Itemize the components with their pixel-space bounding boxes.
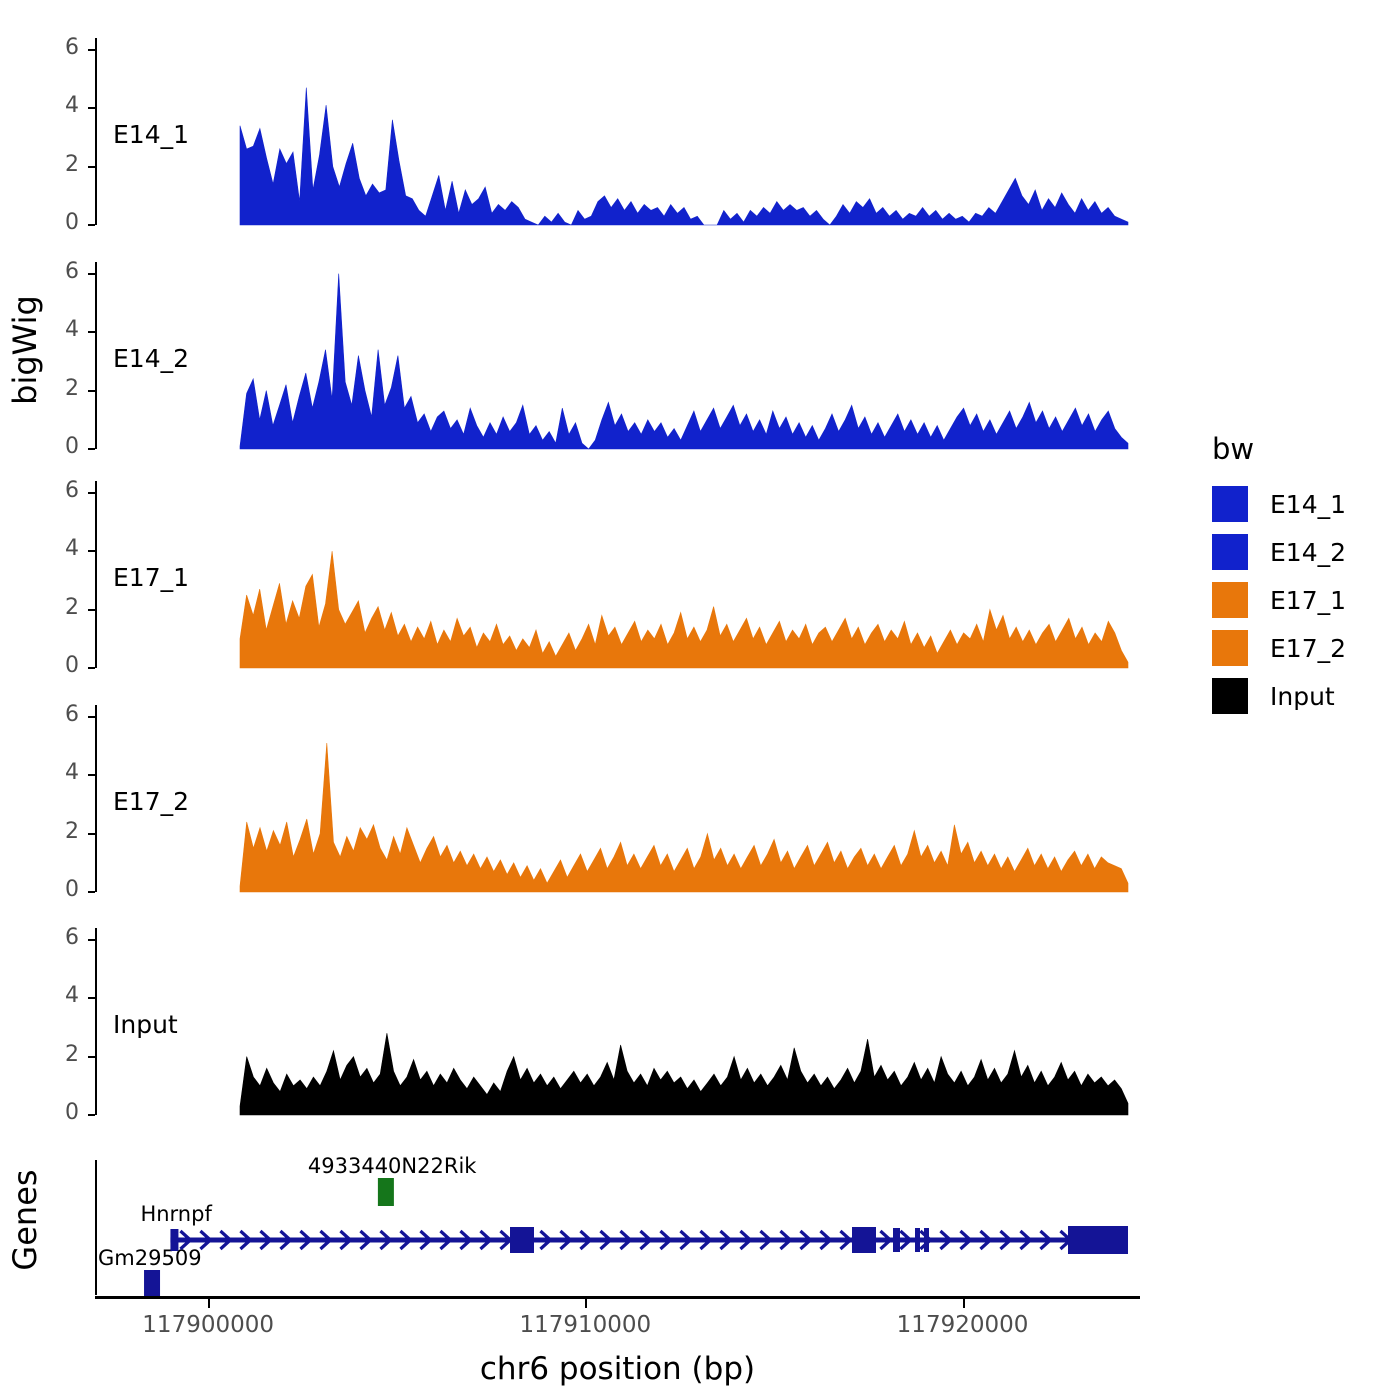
legend-swatch-input <box>1212 678 1248 714</box>
legend-item-e17_2[interactable]: E17_2 <box>1212 630 1346 666</box>
y-tick <box>88 833 95 835</box>
y-tick-label: 0 <box>39 434 79 459</box>
track-panel-input: 0246Input <box>95 928 1140 1115</box>
y-tick <box>88 997 95 999</box>
signal-area-e14_2 <box>95 262 1140 451</box>
y-tick <box>88 224 95 226</box>
x-axis-title: chr6 position (bp) <box>95 1351 1140 1387</box>
x-tick <box>208 1299 210 1308</box>
legend-item-e14_2[interactable]: E14_2 <box>1212 534 1346 570</box>
y-tick <box>88 774 95 776</box>
y-tick-label: 2 <box>39 595 79 620</box>
x-tick <box>963 1299 965 1308</box>
legend-swatch-e17_1 <box>1212 582 1248 618</box>
y-tick <box>88 1114 95 1116</box>
legend-item-e17_1[interactable]: E17_1 <box>1212 582 1346 618</box>
legend-label-e14_2: E14_2 <box>1270 538 1346 567</box>
y-tick-label: 4 <box>39 536 79 561</box>
legend-title: bw <box>1212 432 1254 466</box>
y-tick <box>88 550 95 552</box>
y-tick <box>88 492 95 494</box>
y-tick-label: 4 <box>39 93 79 118</box>
y-tick-label: 6 <box>39 702 79 727</box>
y-tick-label: 4 <box>39 760 79 785</box>
y-tick-label: 0 <box>39 1100 79 1125</box>
signal-area-e17_1 <box>95 481 1140 670</box>
track-panel-e17_1: 0246E17_1 <box>95 481 1140 668</box>
legend-item-e14_1[interactable]: E14_1 <box>1212 486 1346 522</box>
y-tick <box>88 448 95 450</box>
gene-Hnrnpf[interactable] <box>170 1226 1128 1254</box>
gene-models <box>0 1160 1400 1305</box>
y-tick <box>88 166 95 168</box>
gene-Gm29509[interactable] <box>144 1270 160 1298</box>
legend-swatch-e14_2 <box>1212 534 1248 570</box>
signal-area-input <box>95 928 1140 1117</box>
x-tick-label: 117900000 <box>128 1312 288 1338</box>
y-tick-label: 2 <box>39 819 79 844</box>
y-tick-label: 0 <box>39 877 79 902</box>
track-panel-e17_2: 0246E17_2 <box>95 705 1140 892</box>
y-tick-label: 4 <box>39 983 79 1008</box>
y-tick <box>88 331 95 333</box>
track-panel-e14_1: 0246E14_1 <box>95 38 1140 225</box>
y-tick-label: 2 <box>39 1042 79 1067</box>
legend-label-e14_1: E14_1 <box>1270 490 1346 519</box>
signal-area-e17_2 <box>95 705 1140 894</box>
y-tick <box>88 667 95 669</box>
y-tick-label: 6 <box>39 925 79 950</box>
y-tick-label: 2 <box>39 376 79 401</box>
y-tick <box>88 939 95 941</box>
legend-label-e17_2: E17_2 <box>1270 634 1346 663</box>
legend-swatch-e14_1 <box>1212 486 1248 522</box>
legend-label-e17_1: E17_1 <box>1270 586 1346 615</box>
y-tick <box>88 390 95 392</box>
legend-item-input[interactable]: Input <box>1212 678 1335 714</box>
y-tick-label: 0 <box>39 210 79 235</box>
y-tick <box>88 49 95 51</box>
y-tick-label: 6 <box>39 35 79 60</box>
x-tick <box>585 1299 587 1308</box>
y-tick-label: 0 <box>39 653 79 678</box>
y-tick <box>88 1056 95 1058</box>
x-tick-label: 117920000 <box>883 1312 1043 1338</box>
track-panel-e14_2: 0246E14_2 <box>95 262 1140 449</box>
genome-browser-figure: bigWig Genes 0246E14_10246E14_20246E17_1… <box>0 0 1400 1400</box>
legend-swatch-e17_2 <box>1212 630 1248 666</box>
y-tick-label: 6 <box>39 259 79 284</box>
y-tick <box>88 609 95 611</box>
y-tick <box>88 891 95 893</box>
signal-area-e14_1 <box>95 38 1140 227</box>
y-tick <box>88 273 95 275</box>
gene-4933440N22Rik[interactable] <box>378 1178 394 1206</box>
y-tick <box>88 107 95 109</box>
legend-label-input: Input <box>1270 682 1335 711</box>
y-tick-label: 2 <box>39 152 79 177</box>
y-tick-label: 6 <box>39 478 79 503</box>
x-axis-line <box>95 1296 1140 1299</box>
x-tick-label: 117910000 <box>505 1312 665 1338</box>
y-tick-label: 4 <box>39 317 79 342</box>
y-tick <box>88 716 95 718</box>
